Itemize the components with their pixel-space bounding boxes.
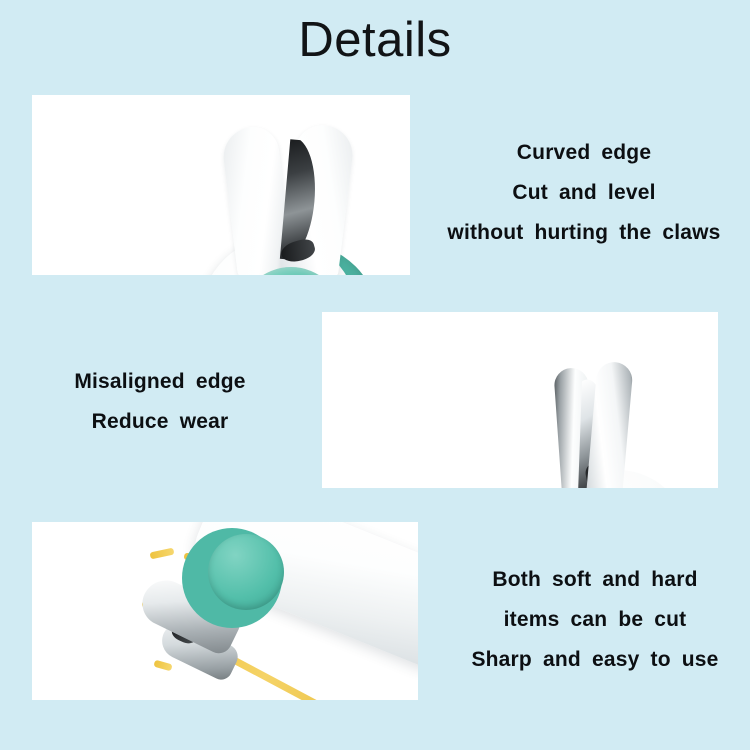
photo-panel-curved-edge <box>32 95 410 275</box>
teal-button <box>208 534 284 610</box>
caption-misaligned-edge: Misaligned edge Reduce wear <box>10 362 310 442</box>
clipper-cutting-strand-image <box>32 522 418 700</box>
caption-line: Curved edge <box>418 133 750 173</box>
caption-line: items can be cut <box>440 600 750 640</box>
yellow-fragment <box>150 548 175 560</box>
caption-line: Sharp and easy to use <box>440 640 750 680</box>
clipper-jaw-front <box>586 361 633 488</box>
caption-soft-and-hard: Both soft and hard items can be cut Shar… <box>440 560 750 680</box>
caption-line: without hurting the claws <box>418 213 750 253</box>
clipper-illustration-cutting <box>32 522 418 700</box>
caption-curved-edge: Curved edge Cut and level without hurtin… <box>418 133 750 253</box>
caption-line: Misaligned edge <box>10 362 310 402</box>
caption-line: Both soft and hard <box>440 560 750 600</box>
yellow-fragment <box>153 660 172 672</box>
clipper-head-front-view-image <box>32 95 410 275</box>
clipper-head-side-view-image <box>322 312 718 488</box>
caption-line: Cut and level <box>418 173 750 213</box>
photo-panel-soft-and-hard <box>32 522 418 700</box>
page-title: Details <box>0 14 750 68</box>
clipper-illustration-front <box>193 115 393 275</box>
caption-line: Reduce wear <box>10 402 310 442</box>
clipper-illustration-side <box>514 344 704 488</box>
photo-panel-misaligned-edge <box>322 312 718 488</box>
